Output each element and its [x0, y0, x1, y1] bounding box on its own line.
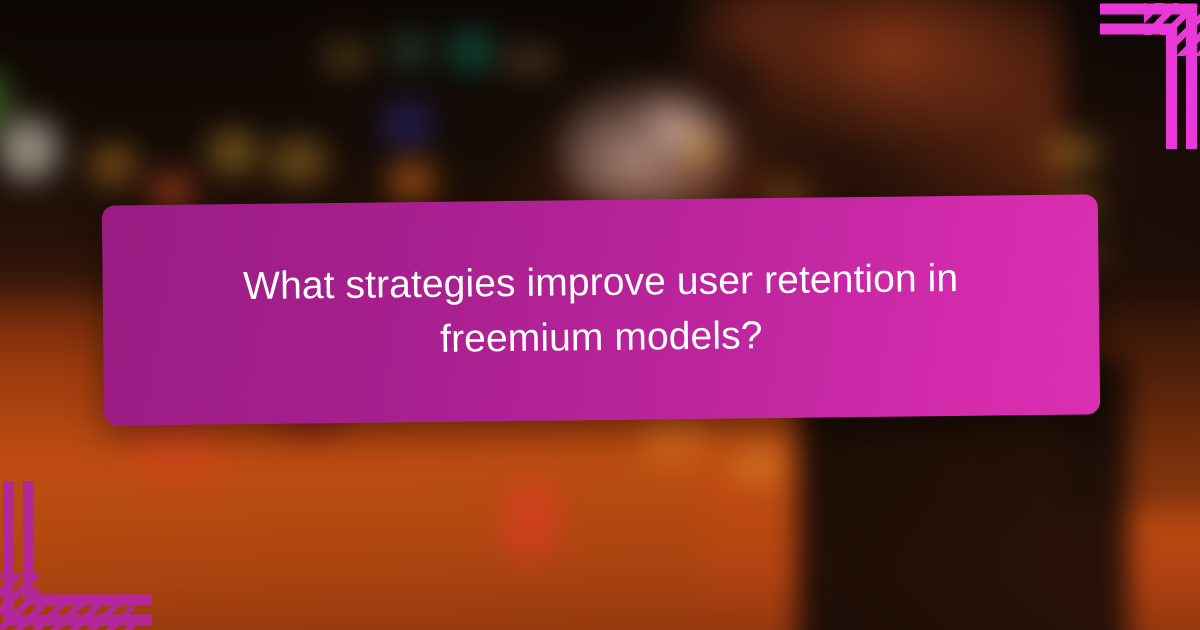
- bokeh-light: [500, 480, 560, 560]
- bokeh-light: [380, 100, 434, 148]
- bokeh-light: [680, 130, 724, 168]
- bokeh-light: [390, 32, 430, 68]
- question-text: What strategies improve user retention i…: [196, 250, 1005, 370]
- bokeh-light: [448, 30, 494, 72]
- bokeh-light: [320, 40, 372, 74]
- bokeh-light: [388, 160, 436, 204]
- social-card-canvas: What strategies improve user retention i…: [0, 0, 1200, 630]
- bokeh-light: [270, 138, 328, 184]
- bokeh-light: [730, 440, 786, 486]
- bokeh-light: [0, 118, 60, 180]
- bokeh-light: [500, 48, 560, 74]
- bokeh-light: [208, 130, 258, 174]
- bokeh-light: [90, 145, 136, 185]
- bokeh-light: [1048, 136, 1100, 170]
- question-card: What strategies improve user retention i…: [102, 194, 1100, 425]
